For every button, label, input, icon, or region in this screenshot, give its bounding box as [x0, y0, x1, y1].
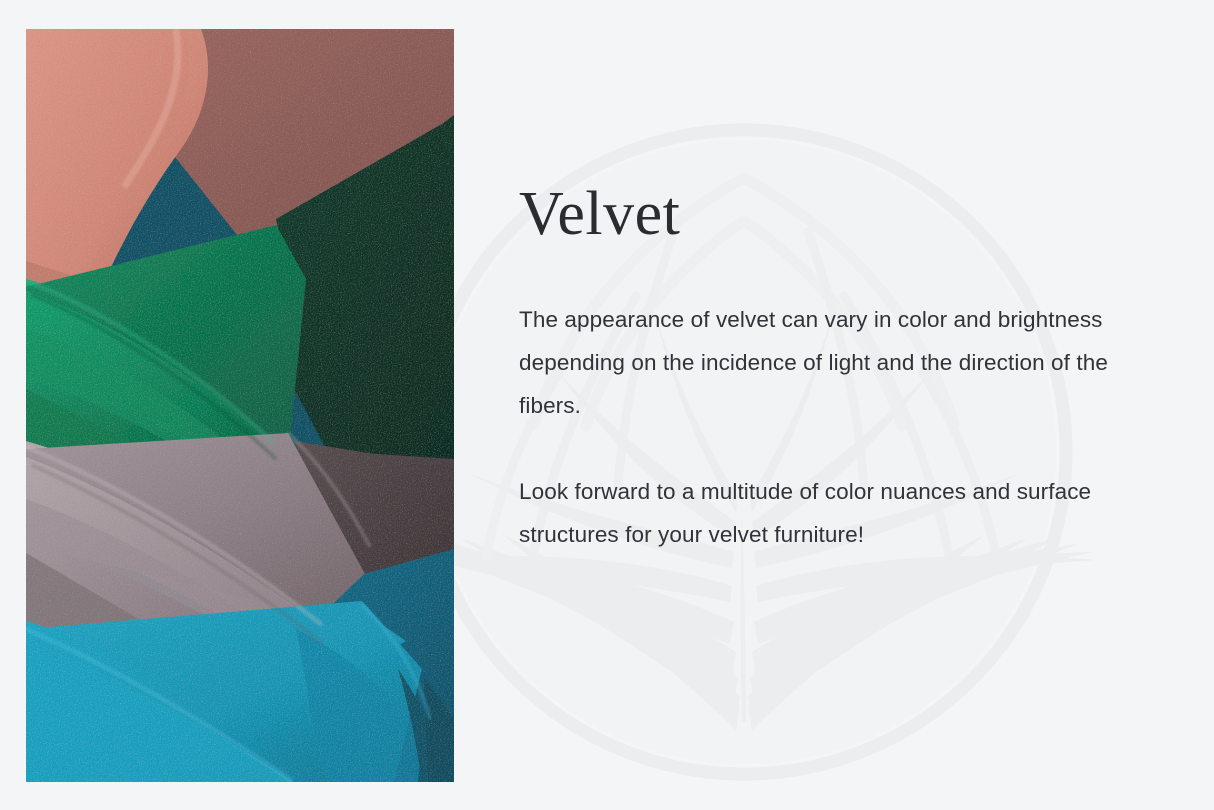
description-paragraph-1: The appearance of velvet can vary in col…: [519, 298, 1139, 427]
velvet-text-panel: Velvet The appearance of velvet can vary…: [454, 0, 1214, 810]
page-title: Velvet: [519, 182, 680, 247]
velvet-feature-section: Velvet The appearance of velvet can vary…: [0, 0, 1214, 810]
description-paragraph-2: Look forward to a multitude of color nua…: [519, 470, 1139, 556]
velvet-fabric-photo: [26, 29, 454, 782]
velvet-fabric-illustration: [26, 29, 454, 782]
